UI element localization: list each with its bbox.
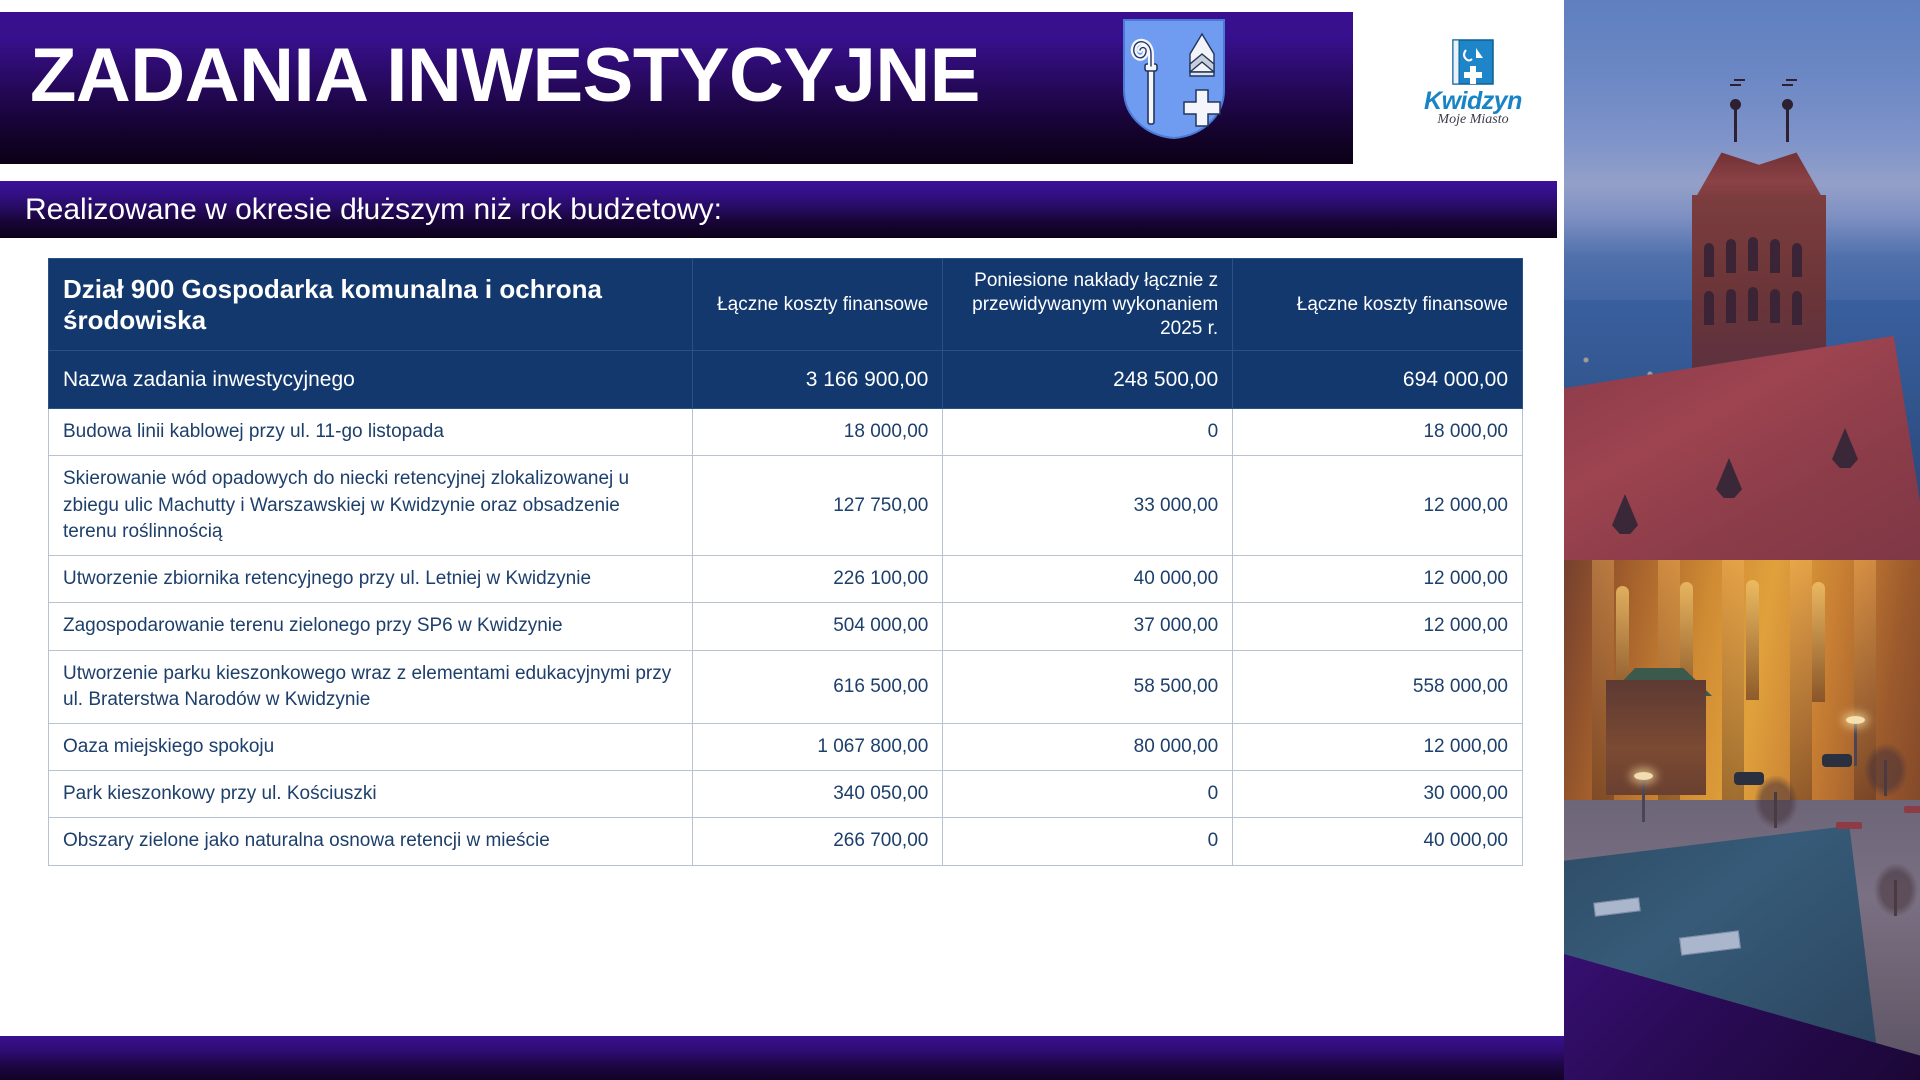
photo-car-1 [1734,772,1764,785]
column-header-total-cost-2: Łączne koszty finansowe [1233,259,1523,351]
row-total-cost: 18 000,00 [693,409,943,456]
row-task-name: Utworzenie zbiornika retencyjnego przy u… [49,556,693,603]
photo-side-chapel [1606,680,1706,795]
row-total-cost-2: 12 000,00 [1233,556,1523,603]
row-task-name: Zagospodarowanie terenu zielonego przy S… [49,603,693,650]
row-incurred: 58 500,00 [943,650,1233,723]
table-row: Oaza miejskiego spokoju1 067 800,0080 00… [49,724,1523,771]
column-header-task-name: Dział 900 Gospodarka komunalna i ochrona… [49,259,693,351]
row-incurred: 0 [943,771,1233,818]
row-incurred: 37 000,00 [943,603,1233,650]
table-row: Park kieszonkowy przy ul. Kościuszki340 … [49,771,1523,818]
photo-tree-2 [1860,738,1912,796]
row-total-cost: 226 100,00 [693,556,943,603]
row-total-cost-2: 12 000,00 [1233,456,1523,556]
row-task-name: Park kieszonkowy przy ul. Kościuszki [49,771,693,818]
row-total-cost-2: 558 000,00 [1233,650,1523,723]
photo-bench-2 [1904,806,1920,813]
row-total-cost: 266 700,00 [693,818,943,865]
kwidzyn-logo-word: Kwidzyn [1418,89,1528,114]
row-total-cost: 616 500,00 [693,650,943,723]
row-total-cost: 340 050,00 [693,771,943,818]
row-total-cost: 504 000,00 [693,603,943,650]
row-total-cost-2: 30 000,00 [1233,771,1523,818]
subtitle-bar: Realizowane w okresie dłuższym niż rok b… [0,181,1557,238]
city-photo [1564,0,1920,1080]
row-total-cost: 127 750,00 [693,456,943,556]
budget-table: Dział 900 Gospodarka komunalna i ochrona… [48,258,1523,866]
table-head: Dział 900 Gospodarka komunalna i ochrona… [49,259,1523,351]
row-task-name: Budowa linii kablowej przy ul. 11-go lis… [49,409,693,456]
row-task-name: Oaza miejskiego spokoju [49,724,693,771]
photo-lamp-2 [1854,722,1857,766]
table-summary: Nazwa zadania inwestycyjnego 3 166 900,0… [49,351,1523,409]
summary-total-cost-2: 694 000,00 [1233,351,1523,409]
table-row: Utworzenie zbiornika retencyjnego przy u… [49,556,1523,603]
table-row: Budowa linii kablowej przy ul. 11-go lis… [49,409,1523,456]
row-task-name: Obszary zielone jako naturalna osnowa re… [49,818,693,865]
table-row: Obszary zielone jako naturalna osnowa re… [49,818,1523,865]
row-total-cost-2: 18 000,00 [1233,409,1523,456]
slide-root: ZADANIA INWESTYCYJNE [0,0,1920,1080]
table-row-summary: Nazwa zadania inwestycyjnego 3 166 900,0… [49,351,1523,409]
column-header-total-cost: Łączne koszty finansowe [693,259,943,351]
row-incurred: 0 [943,409,1233,456]
row-incurred: 80 000,00 [943,724,1233,771]
row-total-cost-2: 12 000,00 [1233,724,1523,771]
table-row: Skierowanie wód opadowych do niecki rete… [49,456,1523,556]
row-task-name: Skierowanie wód opadowych do niecki rete… [49,456,693,556]
photo-spire-right [1786,108,1789,142]
photo-spire-left [1734,108,1737,142]
budget-table-wrapper: Dział 900 Gospodarka komunalna i ochrona… [48,258,1523,866]
kwidzyn-logo: Kwidzyn Moje Miasto [1418,38,1528,132]
photo-lamp-1 [1642,778,1645,822]
bottom-accent-bar [0,1036,1564,1080]
table-row: Zagospodarowanie terenu zielonego przy S… [49,603,1523,650]
column-header-incurred: Poniesione nakłady łącznie z przewidywan… [943,259,1233,351]
photo-car-2 [1822,754,1852,767]
summary-name: Nazwa zadania inwestycyjnego [49,351,693,409]
table-header-row: Dział 900 Gospodarka komunalna i ochrona… [49,259,1523,351]
summary-total-cost: 3 166 900,00 [693,351,943,409]
coat-of-arms-icon [1122,18,1226,140]
kwidzyn-book-icon [1450,38,1496,88]
row-incurred: 40 000,00 [943,556,1233,603]
table-body: Budowa linii kablowej przy ul. 11-go lis… [49,409,1523,865]
row-total-cost-2: 40 000,00 [1233,818,1523,865]
photo-bench-1 [1836,822,1862,829]
subtitle-text: Realizowane w okresie dłuższym niż rok b… [25,193,722,227]
row-total-cost-2: 12 000,00 [1233,603,1523,650]
row-total-cost: 1 067 800,00 [693,724,943,771]
row-incurred: 0 [943,818,1233,865]
table-row: Utworzenie parku kieszonkowego wraz z el… [49,650,1523,723]
row-task-name: Utworzenie parku kieszonkowego wraz z el… [49,650,693,723]
page-title: ZADANIA INWESTYCYJNE [30,32,980,119]
row-incurred: 33 000,00 [943,456,1233,556]
photo-tree-3 [1870,858,1920,916]
summary-incurred: 248 500,00 [943,351,1233,409]
